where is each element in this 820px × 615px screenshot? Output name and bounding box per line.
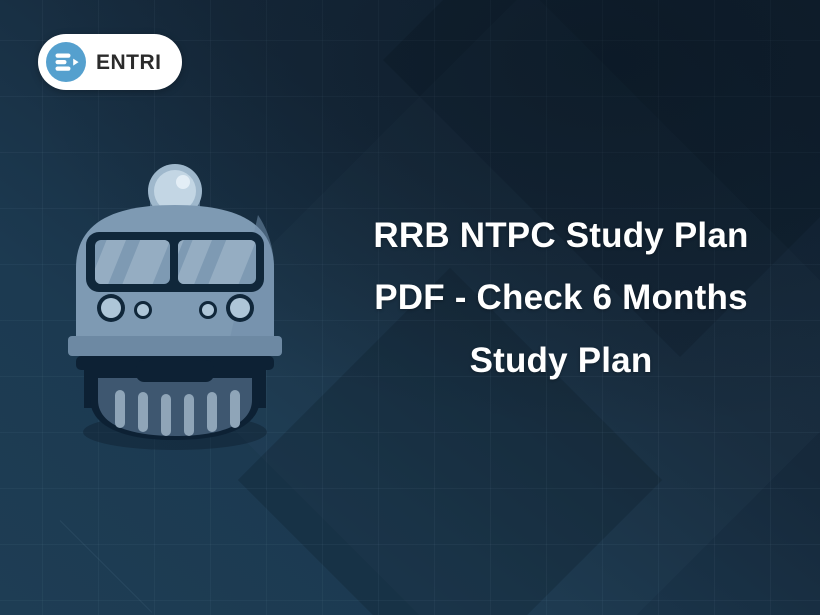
entri-logo-text: ENTRI: [96, 52, 162, 73]
page-title-line-1: RRB NTPC Study Plan: [330, 205, 792, 267]
train-front-illustration: [58, 160, 292, 450]
page-title-line-3: Study Plan: [330, 330, 792, 392]
banner-graphic: ENTRI: [0, 0, 820, 615]
page-title-line-2: PDF - Check 6 Months: [330, 267, 792, 329]
entri-logo[interactable]: ENTRI: [38, 34, 182, 90]
entri-e-play-icon: [46, 42, 86, 82]
page-title: RRB NTPC Study Plan PDF - Check 6 Months…: [330, 205, 792, 392]
